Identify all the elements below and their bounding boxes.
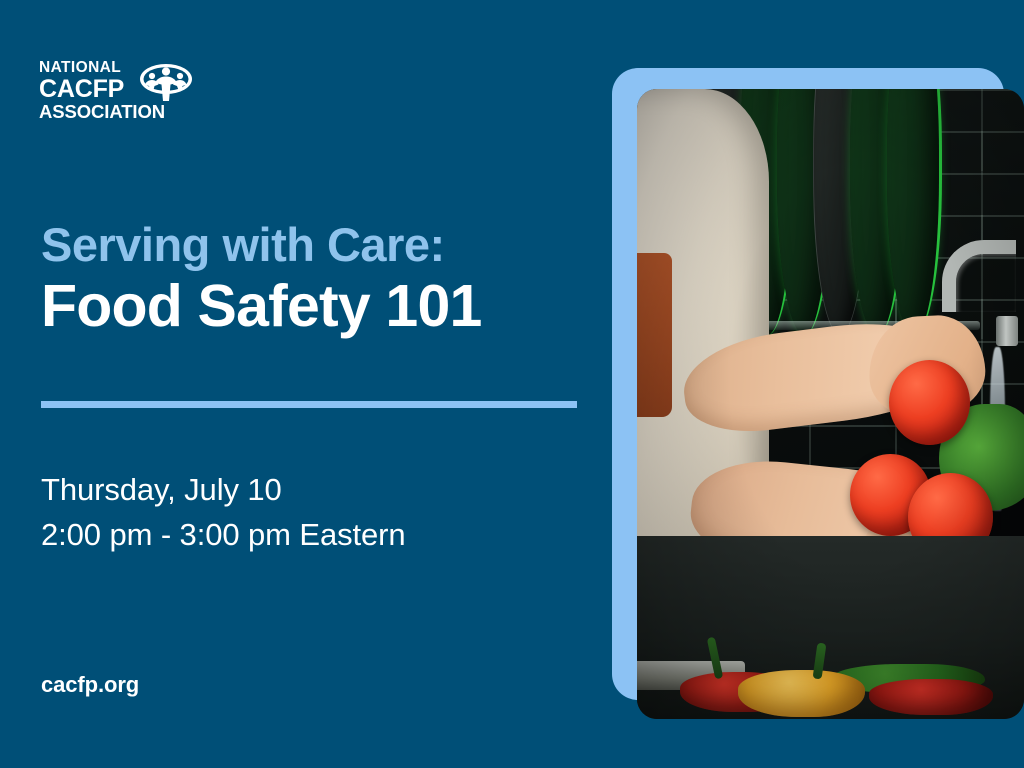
tomato-top bbox=[889, 360, 970, 445]
photo-inner bbox=[637, 89, 1024, 719]
title-eyebrow: Serving with Care: bbox=[41, 218, 601, 271]
orange-apron bbox=[637, 253, 672, 417]
divider-rule bbox=[41, 401, 577, 408]
red-bell-pepper-right bbox=[869, 679, 993, 716]
event-time: 2:00 pm - 3:00 pm Eastern bbox=[41, 513, 581, 558]
title-main: Food Safety 101 bbox=[41, 273, 601, 340]
faucet-head bbox=[996, 316, 1018, 346]
webinar-promo-slide: NATIONAL CACFP ASSOCIATION Serving with … bbox=[0, 0, 1024, 768]
food-safety-photo bbox=[637, 89, 1024, 719]
photo-panel bbox=[612, 68, 1024, 720]
counter-surface bbox=[637, 536, 1024, 719]
website-url[interactable]: cacfp.org bbox=[41, 672, 139, 698]
event-details: Thursday, July 10 2:00 pm - 3:00 pm East… bbox=[41, 468, 581, 557]
three-people-oval-icon bbox=[138, 62, 194, 102]
event-date: Thursday, July 10 bbox=[41, 468, 581, 513]
yellow-bell-pepper bbox=[738, 670, 866, 717]
page-title: Serving with Care: Food Safety 101 bbox=[41, 218, 601, 340]
cacfp-logo[interactable]: NATIONAL CACFP ASSOCIATION bbox=[39, 60, 199, 132]
left-content-column: NATIONAL CACFP ASSOCIATION Serving with … bbox=[0, 0, 618, 768]
logo-line-association: ASSOCIATION bbox=[39, 103, 169, 122]
